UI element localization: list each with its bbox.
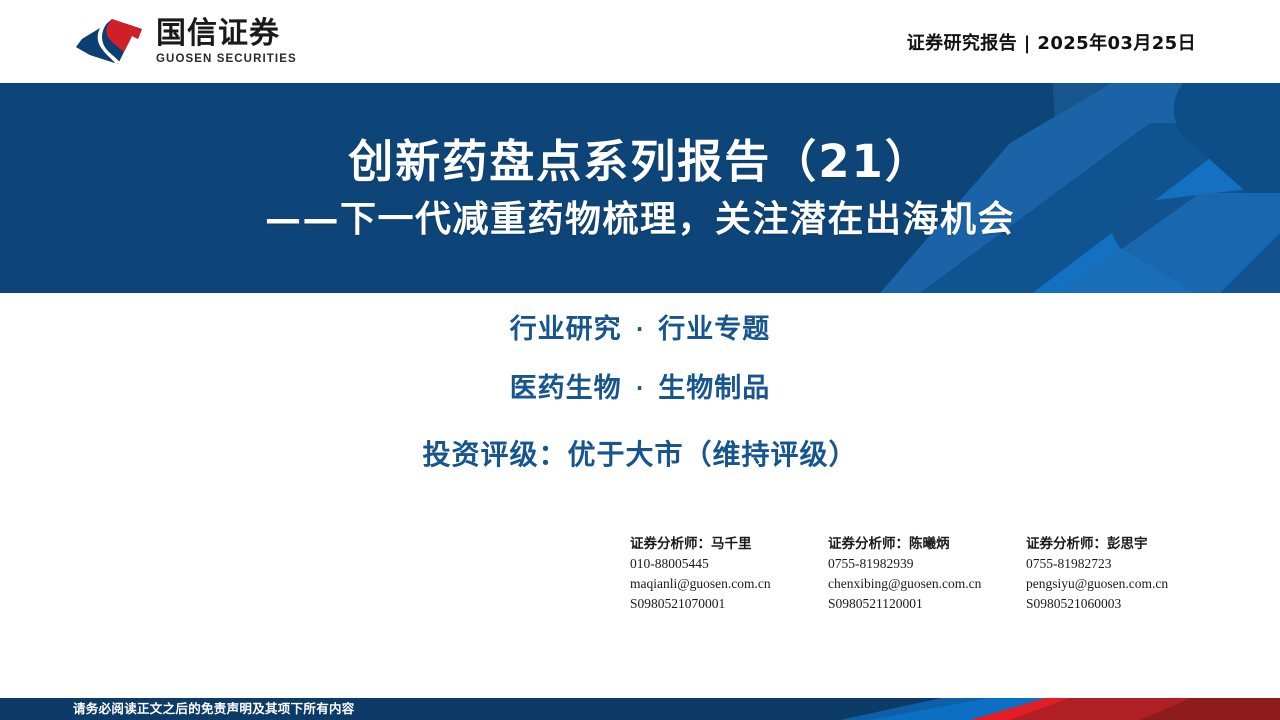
- page-title: 创新药盘点系列报告（21）: [348, 135, 932, 188]
- title-banner: 创新药盘点系列报告（21） ——下一代减重药物梳理，关注潜在出海机会: [0, 83, 1280, 293]
- page-header: 国信证券 GUOSEN SECURITIES 证券研究报告 | 2025年03月…: [0, 0, 1280, 83]
- analyst-phone: 0755-81982939: [828, 554, 1026, 574]
- footer-disclaimer: 请务必阅读正文之后的免责声明及其项下所有内容: [73, 698, 355, 720]
- analyst-list: 证券分析师：马千里 010-88005445 maqianli@guosen.c…: [630, 534, 1230, 614]
- industry-category-line: 医药生物·生物制品: [0, 359, 1280, 418]
- brand-logo: 国信证券 GUOSEN SECURITIES: [72, 17, 297, 67]
- research-category-line: 行业研究·行业专题: [0, 300, 1280, 359]
- analyst-email[interactable]: chenxibing@guosen.com.cn: [828, 574, 1026, 594]
- guosen-mark-icon: [72, 17, 148, 67]
- analyst-license: S0980521120001: [828, 594, 1026, 614]
- analyst-license: S0980521070001: [630, 594, 828, 614]
- investment-rating: 投资评级：优于大市（维持评级）: [0, 426, 1280, 484]
- page-subtitle: ——下一代减重药物梳理，关注潜在出海机会: [265, 198, 1015, 241]
- brand-name-en: GUOSEN SECURITIES: [156, 53, 297, 65]
- banner-title-group: 创新药盘点系列报告（21） ——下一代减重药物梳理，关注潜在出海机会: [0, 83, 1280, 293]
- research-type: 行业研究: [510, 314, 622, 345]
- industry-subsector: 生物制品: [658, 373, 770, 404]
- analyst-name: 证券分析师：彭思宇: [1026, 534, 1224, 554]
- analyst-name: 证券分析师：马千里: [630, 534, 828, 554]
- analyst-phone: 010-88005445: [630, 554, 828, 574]
- analyst-license: S0980521060003: [1026, 594, 1224, 614]
- analyst-email[interactable]: maqianli@guosen.com.cn: [630, 574, 828, 594]
- analyst-card: 证券分析师：马千里 010-88005445 maqianli@guosen.c…: [630, 534, 828, 614]
- brand-name-cn: 国信证券: [156, 18, 297, 50]
- industry-sector: 医药生物: [510, 373, 622, 404]
- research-topic: 行业专题: [658, 314, 770, 345]
- analyst-card: 证券分析师：彭思宇 0755-81982723 pengsiyu@guosen.…: [1026, 534, 1224, 614]
- separator-dot-2: ·: [622, 376, 659, 400]
- analyst-name: 证券分析师：陈曦炳: [828, 534, 1026, 554]
- analyst-card: 证券分析师：陈曦炳 0755-81982939 chenxibing@guose…: [828, 534, 1026, 614]
- analyst-phone: 0755-81982723: [1026, 554, 1224, 574]
- classification-block: 行业研究·行业专题 医药生物·生物制品 投资评级：优于大市（维持评级）: [0, 300, 1280, 484]
- report-cover-page: 国信证券 GUOSEN SECURITIES 证券研究报告 | 2025年03月…: [0, 0, 1280, 720]
- separator-dot-1: ·: [622, 317, 659, 341]
- page-footer: 请务必阅读正文之后的免责声明及其项下所有内容: [0, 698, 1280, 720]
- analyst-email[interactable]: pengsiyu@guosen.com.cn: [1026, 574, 1224, 594]
- brand-wordmark: 国信证券 GUOSEN SECURITIES: [156, 18, 297, 65]
- report-meta: 证券研究报告 | 2025年03月25日: [907, 29, 1196, 55]
